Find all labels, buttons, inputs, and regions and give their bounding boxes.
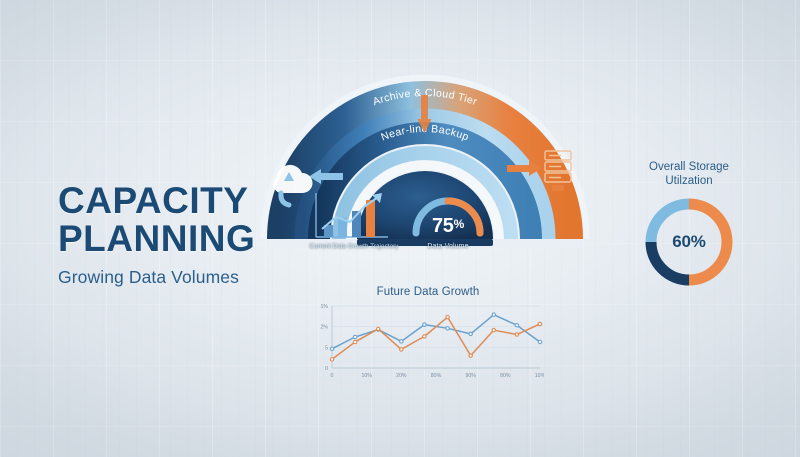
chart-xtick-label: 80%: [500, 373, 511, 379]
chart-point: [377, 327, 380, 330]
chart-title: Future Data Growth: [312, 286, 544, 298]
chart-point: [400, 340, 403, 343]
chart-point: [446, 315, 449, 318]
chart-point: [400, 348, 403, 351]
growth-caption: Current Data Growth Trajectory: [308, 243, 400, 251]
chart-point: [423, 335, 426, 338]
chart-point: [330, 347, 333, 350]
chart-plot-area: 052%1%010%20%80%90%80%10%: [312, 300, 544, 384]
core-metrics: Current Data Growth Trajectory 75% Data …: [302, 183, 502, 271]
chart-point: [538, 322, 541, 325]
chart-point: [492, 313, 495, 316]
storage-utilization-widget: Overall Storage Utilzation 60%: [628, 160, 750, 288]
chart-point: [515, 324, 518, 327]
chart-xtick-label: 10%: [361, 373, 372, 379]
data-volume-caption: Data Volume: [406, 243, 490, 252]
chart-point: [469, 332, 472, 335]
donut-chart: 60%: [643, 196, 735, 288]
percent-number: 75: [432, 215, 454, 237]
bar-chart-growth-icon: [306, 187, 402, 245]
chart-xtick-label: 0: [331, 373, 334, 379]
chart-point: [469, 354, 472, 357]
chart-ytick-label: 5: [325, 345, 328, 351]
chart-ytick-label: 0: [325, 366, 328, 372]
chart-ytick-label: 1%: [321, 304, 329, 310]
chart-point: [446, 327, 449, 330]
chart-point: [353, 340, 356, 343]
donut-percent-label: 60%: [643, 196, 735, 288]
data-volume-percent: 75%: [406, 215, 490, 238]
chart-xtick-label: 20%: [396, 373, 407, 379]
chart-point: [423, 323, 426, 326]
chart-line-orange-series: [332, 317, 540, 359]
future-data-growth-chart: Future Data Growth 052%1%010%20%80%90%80…: [312, 286, 544, 386]
chart-point: [492, 328, 495, 331]
chart-xtick-label: 80%: [431, 373, 442, 379]
chart-point: [353, 335, 356, 338]
infographic-canvas: CAPACITY PLANNING Growing Data Volumes: [0, 0, 800, 457]
chart-point: [538, 340, 541, 343]
chart-point: [515, 333, 518, 336]
chart-xtick-label: 90%: [465, 373, 476, 379]
donut-title-line-2: Utilzation: [628, 174, 750, 188]
chart-line-blue-series: [332, 315, 540, 349]
chart-point: [330, 358, 333, 361]
donut-title-line-1: Overall Storage: [628, 160, 750, 174]
chart-xtick-label: 10%: [535, 373, 544, 379]
donut-title: Overall Storage Utilzation: [628, 160, 750, 189]
chart-ytick-label: 2%: [321, 325, 329, 331]
percent-symbol: %: [454, 217, 464, 231]
